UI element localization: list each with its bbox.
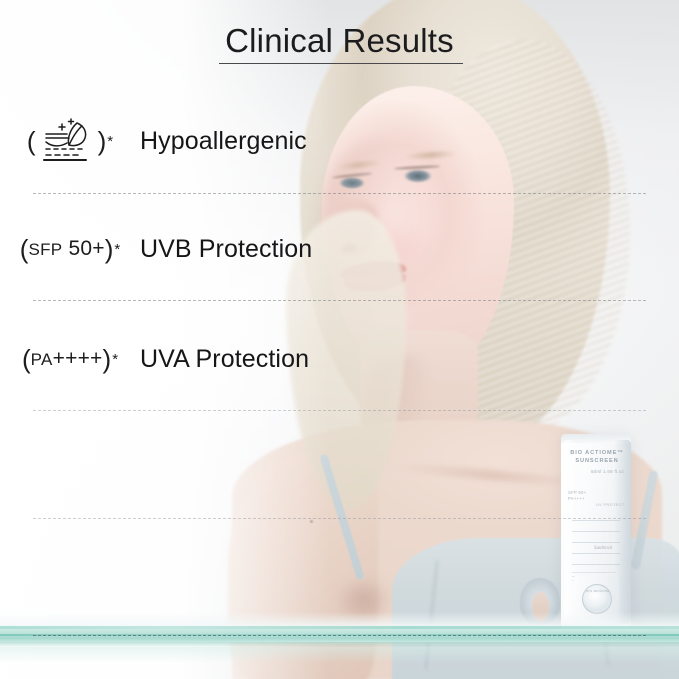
row-divider — [33, 300, 646, 301]
close-paren: ) — [105, 236, 114, 262]
close-paren: ) — [98, 128, 107, 154]
pa-value: PA++++ — [31, 348, 103, 371]
pa-plus: ++++ — [53, 348, 103, 370]
leaf-skin-sparkle-icon — [36, 117, 98, 165]
product-brand-name: BIO ACTIOME™ SUNSCREEN — [566, 449, 628, 465]
left-white-overlay — [0, 0, 330, 679]
claim-row-uvb: ( SFP 50+ )* UVB Protection — [0, 232, 679, 266]
spf-value: SFP 50+ — [28, 238, 104, 261]
row-divider-on-shelf — [33, 635, 646, 636]
product-script-text: Sunblock — [594, 546, 612, 551]
product-infographic: BIO ACTIOME™ SUNSCREEN 50ml 1.69 fl.oz S… — [0, 0, 679, 679]
row-divider — [33, 518, 646, 519]
spf-prefix: SFP — [28, 239, 62, 261]
product-spf: SFP 50+ PA++++ — [568, 490, 586, 502]
shelf-halo — [0, 612, 679, 626]
page-title-wrap: Clinical Results — [0, 22, 679, 66]
open-paren: ( — [27, 128, 36, 154]
claim-row-hypoallergenic: ( )* Hypoallergenic — [0, 118, 679, 164]
product-pa-value: PA++++ — [568, 496, 586, 502]
asterisk: * — [112, 352, 118, 367]
close-paren: ) — [103, 346, 112, 372]
product-brand-line1: BIO ACTIOME™ — [566, 449, 628, 457]
eye-right — [396, 168, 438, 184]
eye-left — [334, 176, 370, 190]
spf-number: 50+ — [68, 238, 104, 260]
claim-badge-spf: ( SFP 50+ )* — [0, 236, 140, 262]
open-paren: ( — [20, 236, 29, 262]
row-divider — [33, 410, 646, 411]
row-divider — [33, 193, 646, 194]
asterisk: * — [107, 134, 113, 149]
page-title: Clinical Results — [221, 22, 458, 66]
open-paren: ( — [22, 346, 31, 372]
glass-shelf-glow — [0, 647, 679, 663]
claim-label-uva: UVA Protection — [140, 344, 309, 374]
pa-prefix: PA — [31, 349, 53, 371]
claim-row-uva: ( PA++++ )* UVA Protection — [0, 342, 679, 376]
page-title-underline — [219, 63, 463, 64]
product-volume: 50ml 1.69 fl.oz — [566, 469, 624, 475]
claim-label-uvb: UVB Protection — [140, 234, 312, 264]
product-uv-protect: UV PROTECT — [596, 503, 624, 507]
claim-badge-hypoallergenic: ( )* — [0, 117, 140, 165]
product-label-textlines — [572, 520, 620, 566]
claim-badge-pa: ( PA++++ )* — [0, 346, 140, 372]
product-logo: bio actiome — [586, 588, 610, 593]
claim-label-hypoallergenic: Hypoallergenic — [140, 126, 307, 156]
asterisk: * — [114, 242, 120, 257]
product-brand-line2: SUNSCREEN — [566, 457, 628, 465]
